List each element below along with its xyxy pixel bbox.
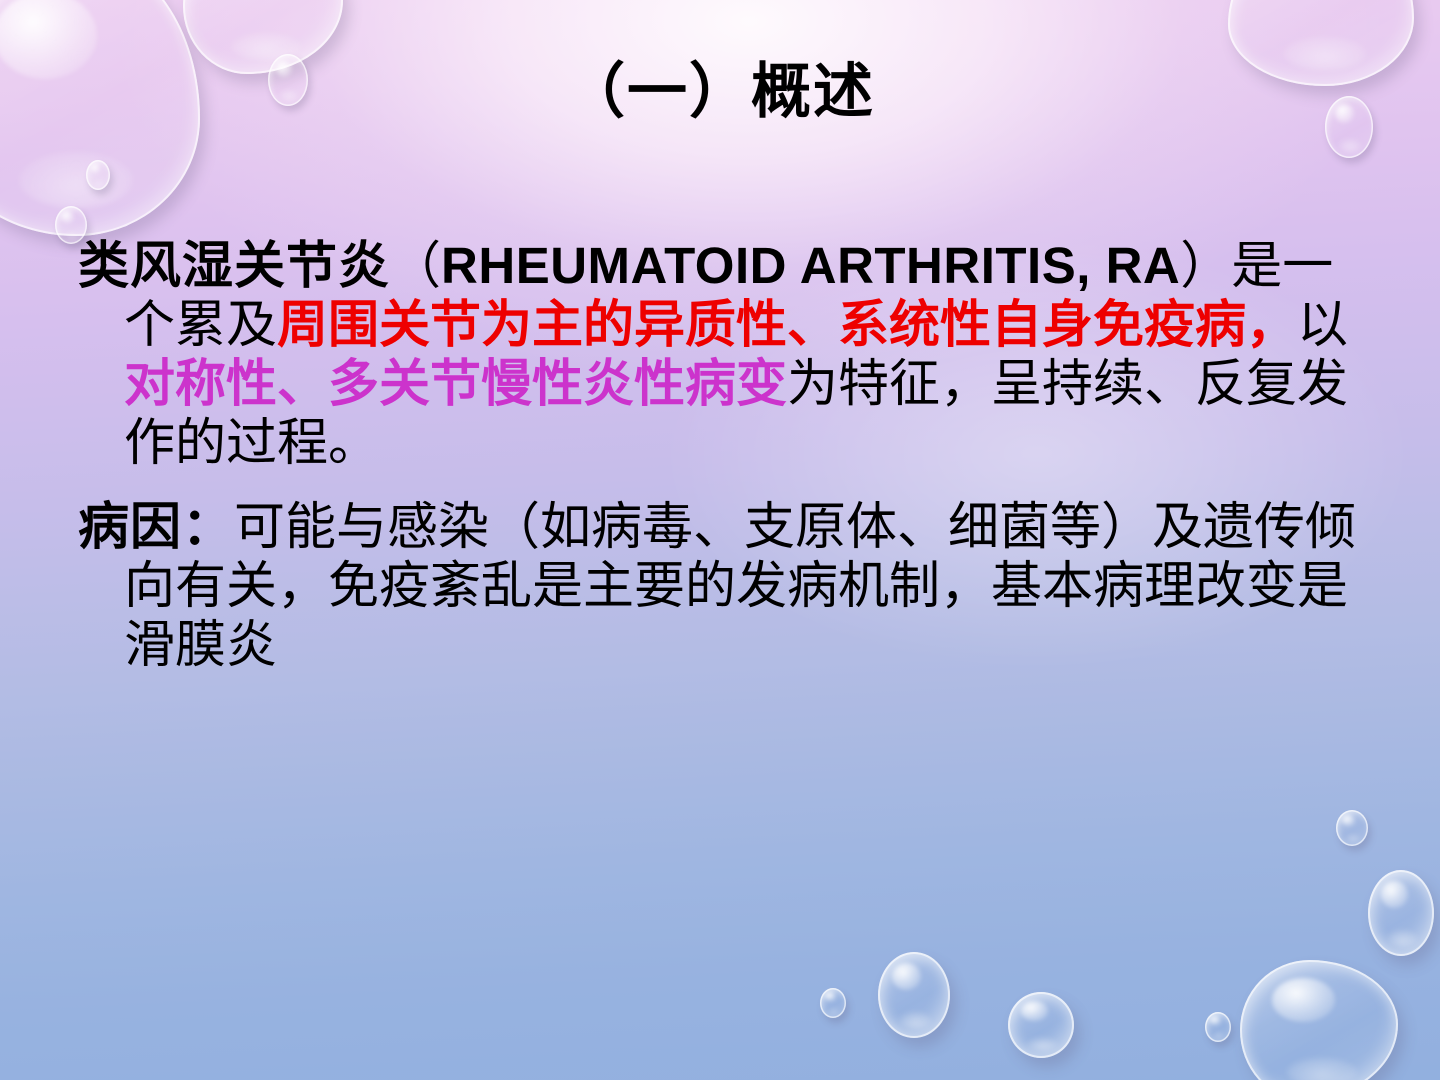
page-title: （一）概述 (0, 62, 1440, 122)
water-droplet-icon (1368, 870, 1434, 956)
water-droplet-icon (1205, 1012, 1231, 1042)
paragraph-definition-lead: 类风湿关节炎 (78, 236, 390, 296)
paragraph-definition: 类风湿关节炎（RHEUMATOID ARTHRITIS, RA）是一个累及周围关… (78, 236, 1378, 474)
paragraph-etiology: 病因：可能与感染（如病毒、支原体、细菌等）及遗传倾向有关，免疫紊乱是主要的发病机… (78, 498, 1378, 675)
run-purple-emphasis: 对称性、多关节慢性炎性病变 (124, 354, 787, 414)
run-latin-name: RHEUMATOID ARTHRITIS, RA (441, 237, 1180, 294)
run-red-emphasis: 周围关节为主的异质性、系统性自身免疫病， (277, 295, 1297, 355)
paragraph-etiology-lead: 病因： (78, 497, 234, 557)
run-etiology-body: 可能与感染（如病毒、支原体、细菌等）及遗传倾向有关，免疫紊乱是主要的发病机制，基… (124, 498, 1356, 675)
water-droplet-icon (820, 988, 846, 1018)
water-droplet-icon (878, 952, 950, 1038)
slide-body: 类风湿关节炎（RHEUMATOID ARTHRITIS, RA）是一个累及周围关… (78, 236, 1378, 675)
water-droplet-icon (86, 160, 110, 190)
slide-canvas: （一）概述 类风湿关节炎（RHEUMATOID ARTHRITIS, RA）是一… (0, 0, 1440, 1080)
run-paren-open: （ (390, 237, 441, 296)
water-droplet-icon (1008, 992, 1074, 1058)
run-paren-close: ） (1180, 237, 1231, 296)
water-droplet-icon (1240, 960, 1398, 1080)
water-droplet-icon (1336, 810, 1368, 846)
run-plain-2: 以 (1297, 296, 1348, 355)
